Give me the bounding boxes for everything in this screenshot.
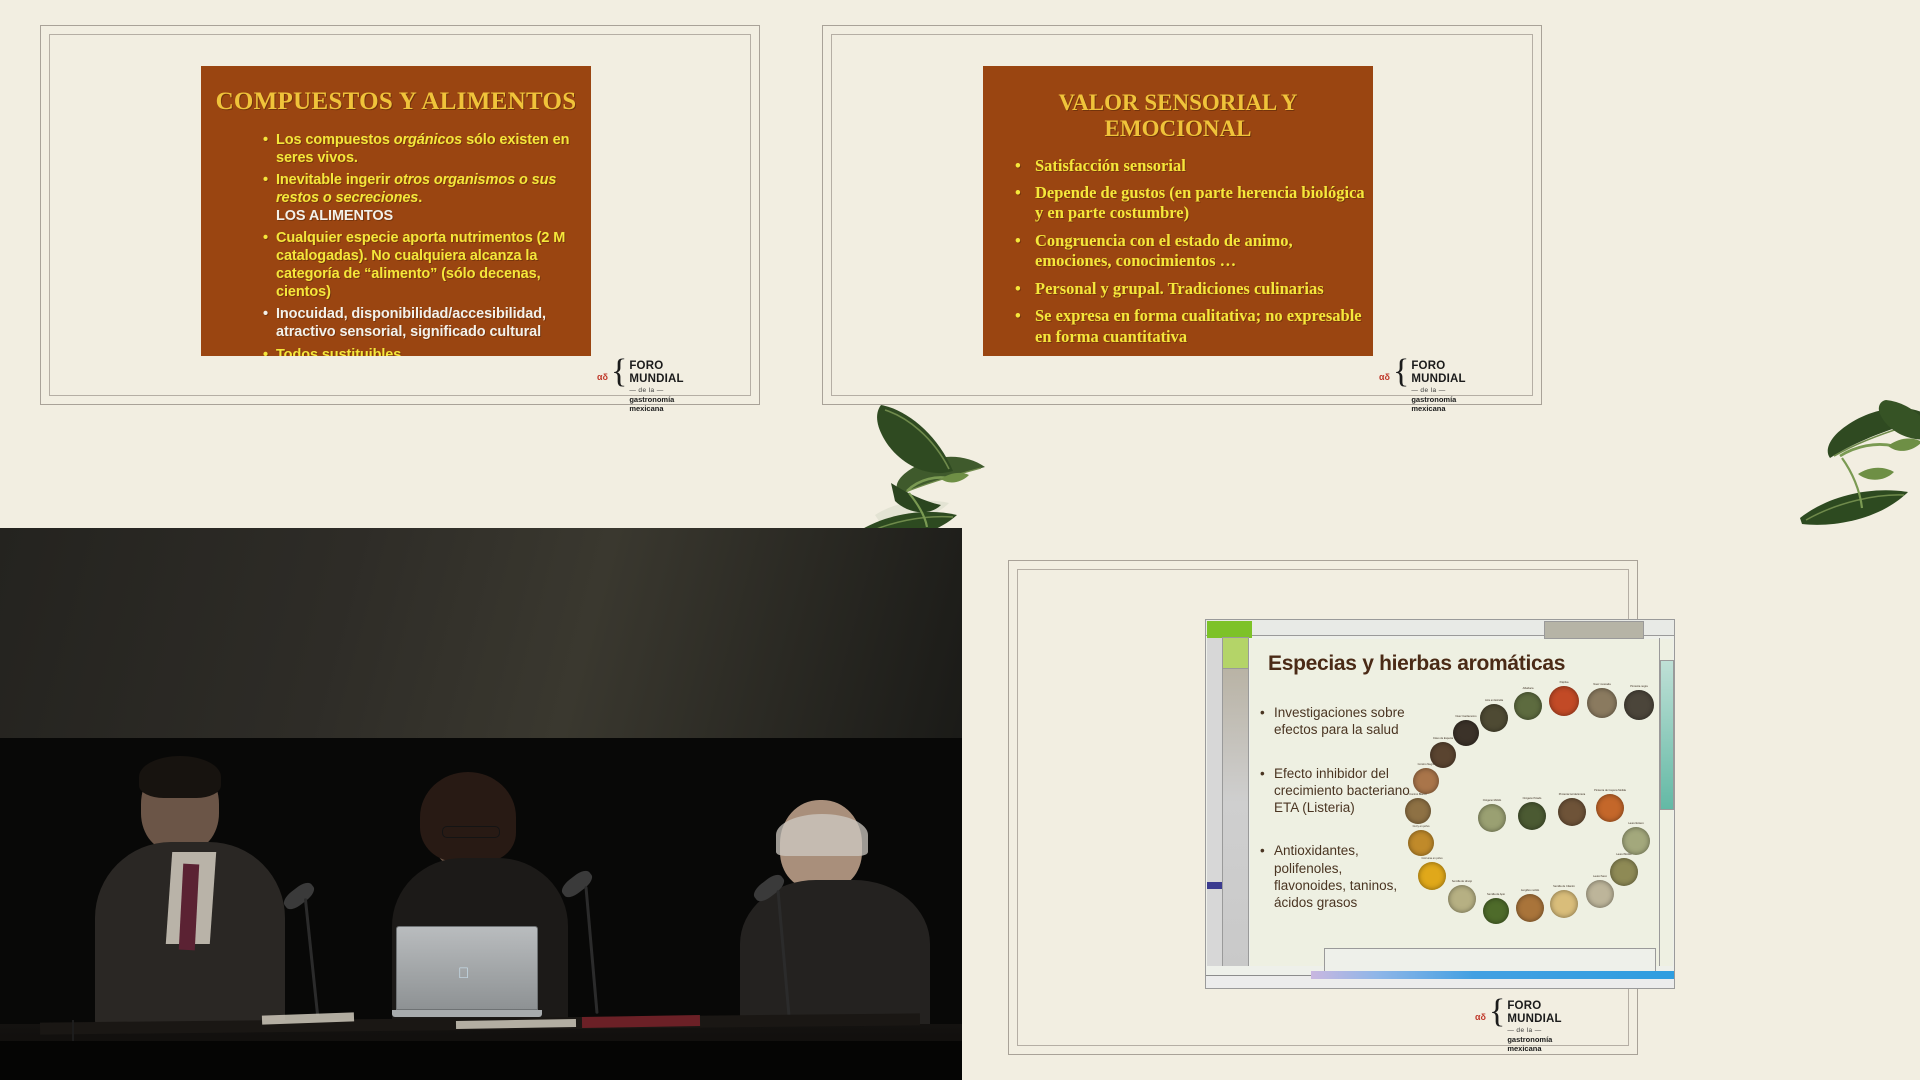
- slide1-bullet-3: • Cualquier especie aporta nutrimentos (…: [263, 230, 591, 301]
- slide3-bullet-1-text: Investigaciones sobre efectos para la sa…: [1274, 705, 1405, 737]
- slide1-bullet-list: • Los compuestos orgánicos sólo existen …: [263, 132, 591, 356]
- logo-mark-icon: αδ: [1379, 372, 1390, 382]
- logo-dash-de-la: — de la —: [1411, 388, 1465, 395]
- spice-label: Nuez moscada: [1593, 683, 1610, 686]
- spice-label: Anis en Estrella: [1485, 699, 1503, 702]
- slide-collage-page: COMPUESTOS Y ALIMENTOS • Los compuestos …: [0, 0, 1920, 1080]
- screenshot-gray-panel: [1544, 621, 1644, 639]
- slide1-title: COMPUESTOS Y ALIMENTOS: [201, 88, 591, 116]
- spice-label: Semilla de Hinojo: [1452, 880, 1472, 883]
- presentation-slide-compuestos-y-alimentos: COMPUESTOS Y ALIMENTOS • Los compuestos …: [201, 66, 591, 356]
- slide3-bullet-2-text: Efecto inhibidor del crecimiento bacteri…: [1274, 766, 1410, 816]
- bullet-dot-icon: •: [1015, 183, 1021, 203]
- logo-line-mundial: MUNDIAL: [1411, 374, 1465, 386]
- spice-sample-ring-diagram: AlbahacaPáprikaNuez moscadaPimienta negr…: [1396, 682, 1666, 927]
- spice-label: Nuez Cardamomo: [1455, 715, 1476, 718]
- spice-label: Albahaca: [1523, 687, 1534, 690]
- spice-sample-circle: [1514, 692, 1542, 720]
- slide2-bullet-5: • Se expresa en forma cualitativa; no ex…: [1015, 306, 1373, 347]
- bullet-dot-icon: •: [1260, 765, 1265, 782]
- screenshot-blue-gradient-bar: [1311, 971, 1674, 979]
- logo-line-foro: FORO: [1507, 1001, 1561, 1013]
- photo-panelist-center-glasses: [442, 826, 500, 838]
- spice-label: Laurel Seco: [1593, 875, 1607, 878]
- spice-sample-circle: [1453, 720, 1479, 746]
- logo-wordmark: FORO MUNDIAL — de la — gastronomía mexic…: [1411, 361, 1465, 413]
- photo-microphone-1: [282, 888, 352, 1018]
- spice-sample-circle: [1587, 688, 1617, 718]
- slide2-bullet-1: • Satisfacción sensorial: [1015, 156, 1373, 176]
- spice-sample-circle: [1624, 690, 1654, 720]
- spice-sample-circle: [1586, 880, 1614, 908]
- spice-sample-circle: [1622, 827, 1650, 855]
- slide3-bullet-1: • Investigaciones sobre efectos para la …: [1260, 704, 1410, 739]
- slide2-bullet-4: • Personal y grupal. Tradiciones culinar…: [1015, 279, 1373, 299]
- spice-label: Semilla de Apio: [1487, 893, 1505, 896]
- photo-microphone-2: [560, 876, 630, 1016]
- logo-line-gastronomia: gastronomía: [1507, 1036, 1561, 1044]
- logo-brace-icon: {: [1489, 999, 1505, 1025]
- logo-line-mexicana: mexicana: [629, 405, 683, 413]
- logo-wordmark: FORO MUNDIAL — de la — gastronomía mexic…: [629, 361, 683, 413]
- slide-card-1: COMPUESTOS Y ALIMENTOS • Los compuestos …: [40, 25, 760, 405]
- photo-microphone-3: [752, 880, 822, 1020]
- spice-label: Jengibre molido: [1521, 889, 1539, 892]
- slide3-bullet-3-text: Antioxidantes, polifenoles, flavonoides,…: [1274, 843, 1397, 910]
- spice-label: Comino Blanco: [1409, 793, 1427, 796]
- spice-label: Pimienta de Cayena Molida: [1594, 789, 1626, 792]
- spice-sample-circle: [1448, 885, 1476, 913]
- slide3-bullet-2: • Efecto inhibidor del crecimiento bacte…: [1260, 765, 1410, 817]
- logo-line-gastronomia: gastronomía: [1411, 396, 1465, 404]
- spice-label: Cúrcuma en polvo: [1421, 857, 1442, 860]
- microphone-stand: [584, 886, 598, 1014]
- spice-sample-circle: [1558, 798, 1586, 826]
- foro-mundial-logo: αδ { FORO MUNDIAL — de la — gastronomía …: [597, 361, 684, 413]
- logo-wordmark: FORO MUNDIAL — de la — gastronomía mexic…: [1507, 1001, 1561, 1053]
- logo-brace-icon: {: [1393, 359, 1409, 385]
- spice-label: Curry en polvo: [1413, 825, 1430, 828]
- bullet-dot-icon: •: [1015, 156, 1021, 176]
- presentation-slide-valor-sensorial-y-emocional: VALOR SENSORIAL Y EMOCIONAL • Satisfacci…: [983, 66, 1373, 356]
- logo-brace-icon: {: [611, 359, 627, 385]
- slide3-bullet-3: • Antioxidantes, polifenoles, flavonoide…: [1260, 842, 1410, 911]
- spice-label: Clavo de Especia: [1433, 737, 1453, 740]
- photo-red-folder: [582, 1015, 700, 1028]
- spice-sample-circle: [1518, 802, 1546, 830]
- logo-dash-de-la: — de la —: [629, 388, 683, 395]
- foro-mundial-logo: αδ { FORO MUNDIAL — de la — gastronomía …: [1379, 361, 1466, 413]
- spice-sample-circle: [1418, 862, 1446, 890]
- logo-dash-de-la: — de la —: [1507, 1028, 1561, 1035]
- slide1-bullet-3-text: Cualquier especie aporta nutrimentos (2 …: [276, 230, 591, 301]
- spice-label: Páprika: [1560, 681, 1569, 684]
- slide1-bullet-2-subline: LOS ALIMENTOS: [276, 208, 591, 226]
- photo-stage-floor: [0, 1041, 962, 1080]
- spice-sample-circle: [1480, 704, 1508, 732]
- logo-line-foro: FORO: [629, 361, 683, 373]
- screenshot-green-accent-1: [1207, 621, 1252, 638]
- bullet-dot-icon: •: [263, 347, 268, 356]
- slide2-bullet-4-text: Personal y grupal. Tradiciones culinaria…: [1035, 279, 1373, 299]
- spice-sample-circle: [1408, 830, 1434, 856]
- spice-label: Orégano Molido: [1483, 799, 1501, 802]
- bullet-dot-icon: •: [1260, 842, 1265, 859]
- spice-sample-circle: [1550, 890, 1578, 918]
- slide1-bullet-1-text: Los compuestos orgánicos sólo existen en…: [276, 132, 591, 167]
- laptop-base: [392, 1010, 542, 1017]
- slide1-bullet-4: • Inocuidad, disponibilidad/accesibilida…: [263, 306, 591, 341]
- slide-card-3: Especias y hierbas aromáticas • Investig…: [1008, 560, 1638, 1055]
- spice-sample-circle: [1405, 798, 1431, 824]
- screenshot-scrollbar-track[interactable]: [1207, 638, 1223, 966]
- photo-back-wall: [0, 528, 962, 765]
- spice-sample-circle: [1516, 894, 1544, 922]
- screenshot-side-panel: [1223, 669, 1249, 966]
- slide1-bullet-5-text: Todos sustituibles: [276, 347, 591, 356]
- spice-sample-circle: [1549, 686, 1579, 716]
- leaf-decoration-right-edge: [1800, 340, 1920, 540]
- spice-label: Orégano Picado: [1523, 797, 1542, 800]
- slide1-bullet-2-text: Inevitable ingerir otros organismos o su…: [276, 172, 591, 207]
- bullet-dot-icon: •: [1015, 306, 1021, 326]
- spice-sample-circle: [1610, 858, 1638, 886]
- microphone-stand: [777, 890, 791, 1016]
- bullet-dot-icon: •: [263, 230, 268, 248]
- logo-line-mundial: MUNDIAL: [629, 374, 683, 386]
- photo-panelist-right-hair: [776, 814, 868, 856]
- bullet-dot-icon: •: [263, 306, 268, 324]
- photo-panelist-left: [95, 760, 285, 1020]
- spice-label: Semilla de Cilantro: [1553, 885, 1575, 888]
- panel-discussion-photo: : [0, 528, 962, 1080]
- slide2-bullet-1-text: Satisfacción sensorial: [1035, 156, 1373, 176]
- slide1-bullet-1: • Los compuestos orgánicos sólo existen …: [263, 132, 591, 167]
- screenshot-green-accent-2: [1222, 637, 1249, 669]
- photo-panelist-center-hair: [420, 772, 516, 862]
- slide-card-2: VALOR SENSORIAL Y EMOCIONAL • Satisfacci…: [822, 25, 1542, 405]
- logo-mark-icon: αδ: [1475, 1012, 1486, 1022]
- slide2-bullet-list: • Satisfacción sensorial • Depende de gu…: [1015, 156, 1373, 357]
- slide1-bullet-2: • Inevitable ingerir otros organismos o …: [263, 172, 591, 225]
- logo-mark-icon: αδ: [597, 372, 608, 382]
- bullet-dot-icon: •: [1015, 279, 1021, 299]
- slide1-bullet-4-text: Inocuidad, disponibilidad/accesibilidad,…: [276, 306, 591, 341]
- spice-label: Pimienta negra: [1630, 685, 1647, 688]
- bullet-dot-icon: •: [263, 132, 268, 150]
- spice-sample-circle: [1478, 804, 1506, 832]
- logo-line-mexicana: mexicana: [1507, 1045, 1561, 1053]
- presentation-slide-especias-y-hierbas: Especias y hierbas aromáticas • Investig…: [1205, 619, 1675, 989]
- slide2-title: VALOR SENSORIAL Y EMOCIONAL: [983, 90, 1373, 142]
- slide1-bullet-5: • Todos sustituibles: [263, 347, 591, 356]
- slide3-bullet-list: • Investigaciones sobre efectos para la …: [1260, 704, 1410, 937]
- bullet-dot-icon: •: [1015, 231, 1021, 251]
- spice-sample-circle: [1413, 768, 1439, 794]
- bullet-dot-icon: •: [263, 172, 268, 190]
- spice-label: Pimienta Gorda Entera: [1559, 793, 1585, 796]
- slide2-bullet-2-text: Depende de gustos (en parte herencia bio…: [1035, 183, 1373, 224]
- slide3-title: Especias y hierbas aromáticas: [1268, 652, 1565, 676]
- foro-mundial-logo: αδ { FORO MUNDIAL — de la — gastronomía …: [1475, 1001, 1562, 1053]
- microphone-stand: [304, 898, 319, 1016]
- spice-sample-circle: [1596, 794, 1624, 822]
- spice-label: Laurel Entero: [1628, 822, 1644, 825]
- slide2-bullet-5-text: Se expresa en forma cualitativa; no expr…: [1035, 306, 1373, 347]
- slide2-bullet-3-text: Congruencia con el estado de animo, emoc…: [1035, 231, 1373, 272]
- logo-line-foro: FORO: [1411, 361, 1465, 373]
- spice-sample-circle: [1483, 898, 1509, 924]
- logo-line-mexicana: mexicana: [1411, 405, 1465, 413]
- logo-line-mundial: MUNDIAL: [1507, 1014, 1561, 1026]
- apple-logo-icon: : [458, 966, 469, 981]
- bullet-dot-icon: •: [1260, 704, 1265, 721]
- spice-label: Comino Negro: [1418, 763, 1435, 766]
- photo-panelist-left-hair: [139, 756, 221, 798]
- slide2-bullet-3: • Congruencia con el estado de animo, em…: [1015, 231, 1373, 272]
- logo-line-gastronomia: gastronomía: [629, 396, 683, 404]
- slide2-bullet-2: • Depende de gustos (en parte herencia b…: [1015, 183, 1373, 224]
- screenshot-scrollbar-thumb[interactable]: [1207, 882, 1222, 889]
